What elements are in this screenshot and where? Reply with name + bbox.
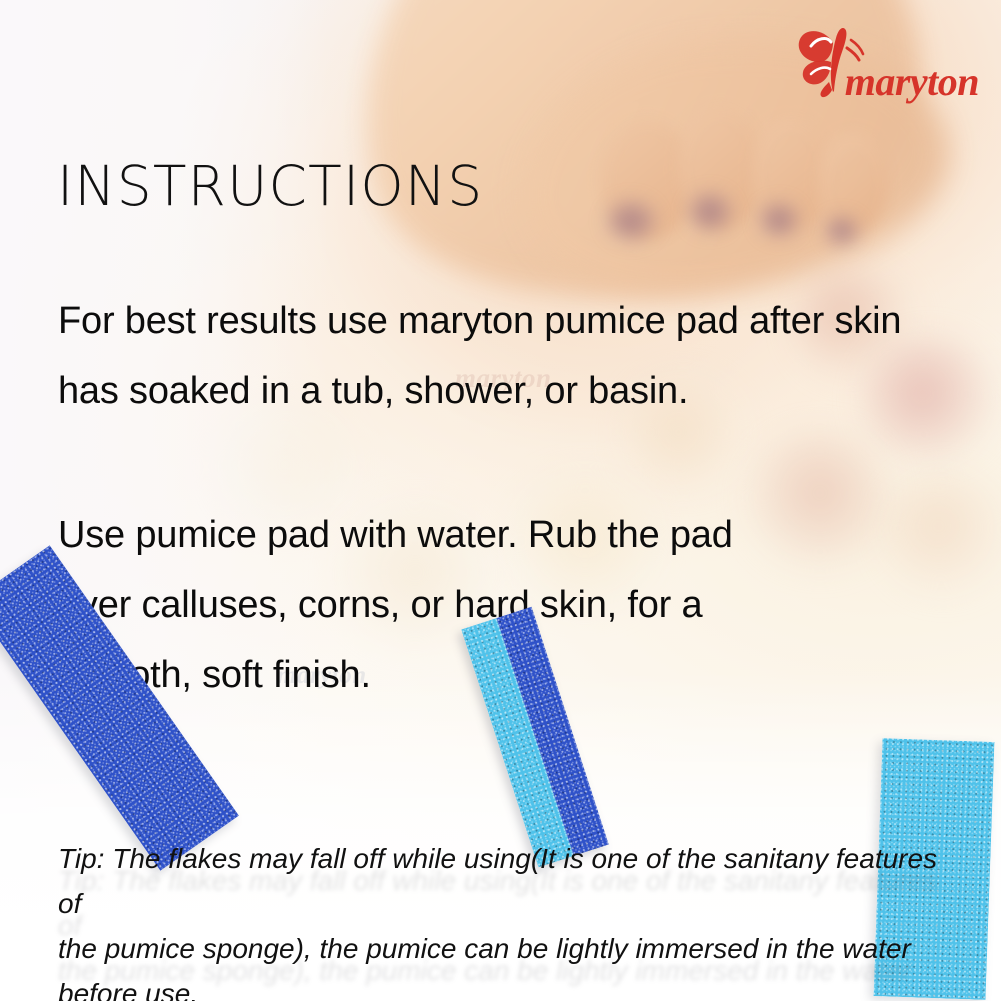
toenail-shape — [604, 198, 658, 244]
brand-logo: maryton — [783, 22, 979, 104]
brand-wordmark: maryton — [845, 62, 979, 102]
toenail-shape — [823, 214, 861, 248]
toenail-shape — [757, 200, 801, 240]
instruction-paragraph-1: For best results use maryton pumice pad … — [58, 286, 978, 426]
toenail-shape — [686, 190, 734, 234]
tip-text: Tip: The flakes may fall off while using… — [58, 836, 938, 1001]
flower-bokeh — [880, 470, 1001, 595]
page-title: INSTRUCTIONS — [57, 154, 483, 218]
instruction-paragraph-2: Use pumice pad with water. Rub the pad o… — [58, 500, 838, 710]
product-instruction-image: maryton maryton maryton INSTRUCTIONS For… — [0, 0, 1001, 1001]
